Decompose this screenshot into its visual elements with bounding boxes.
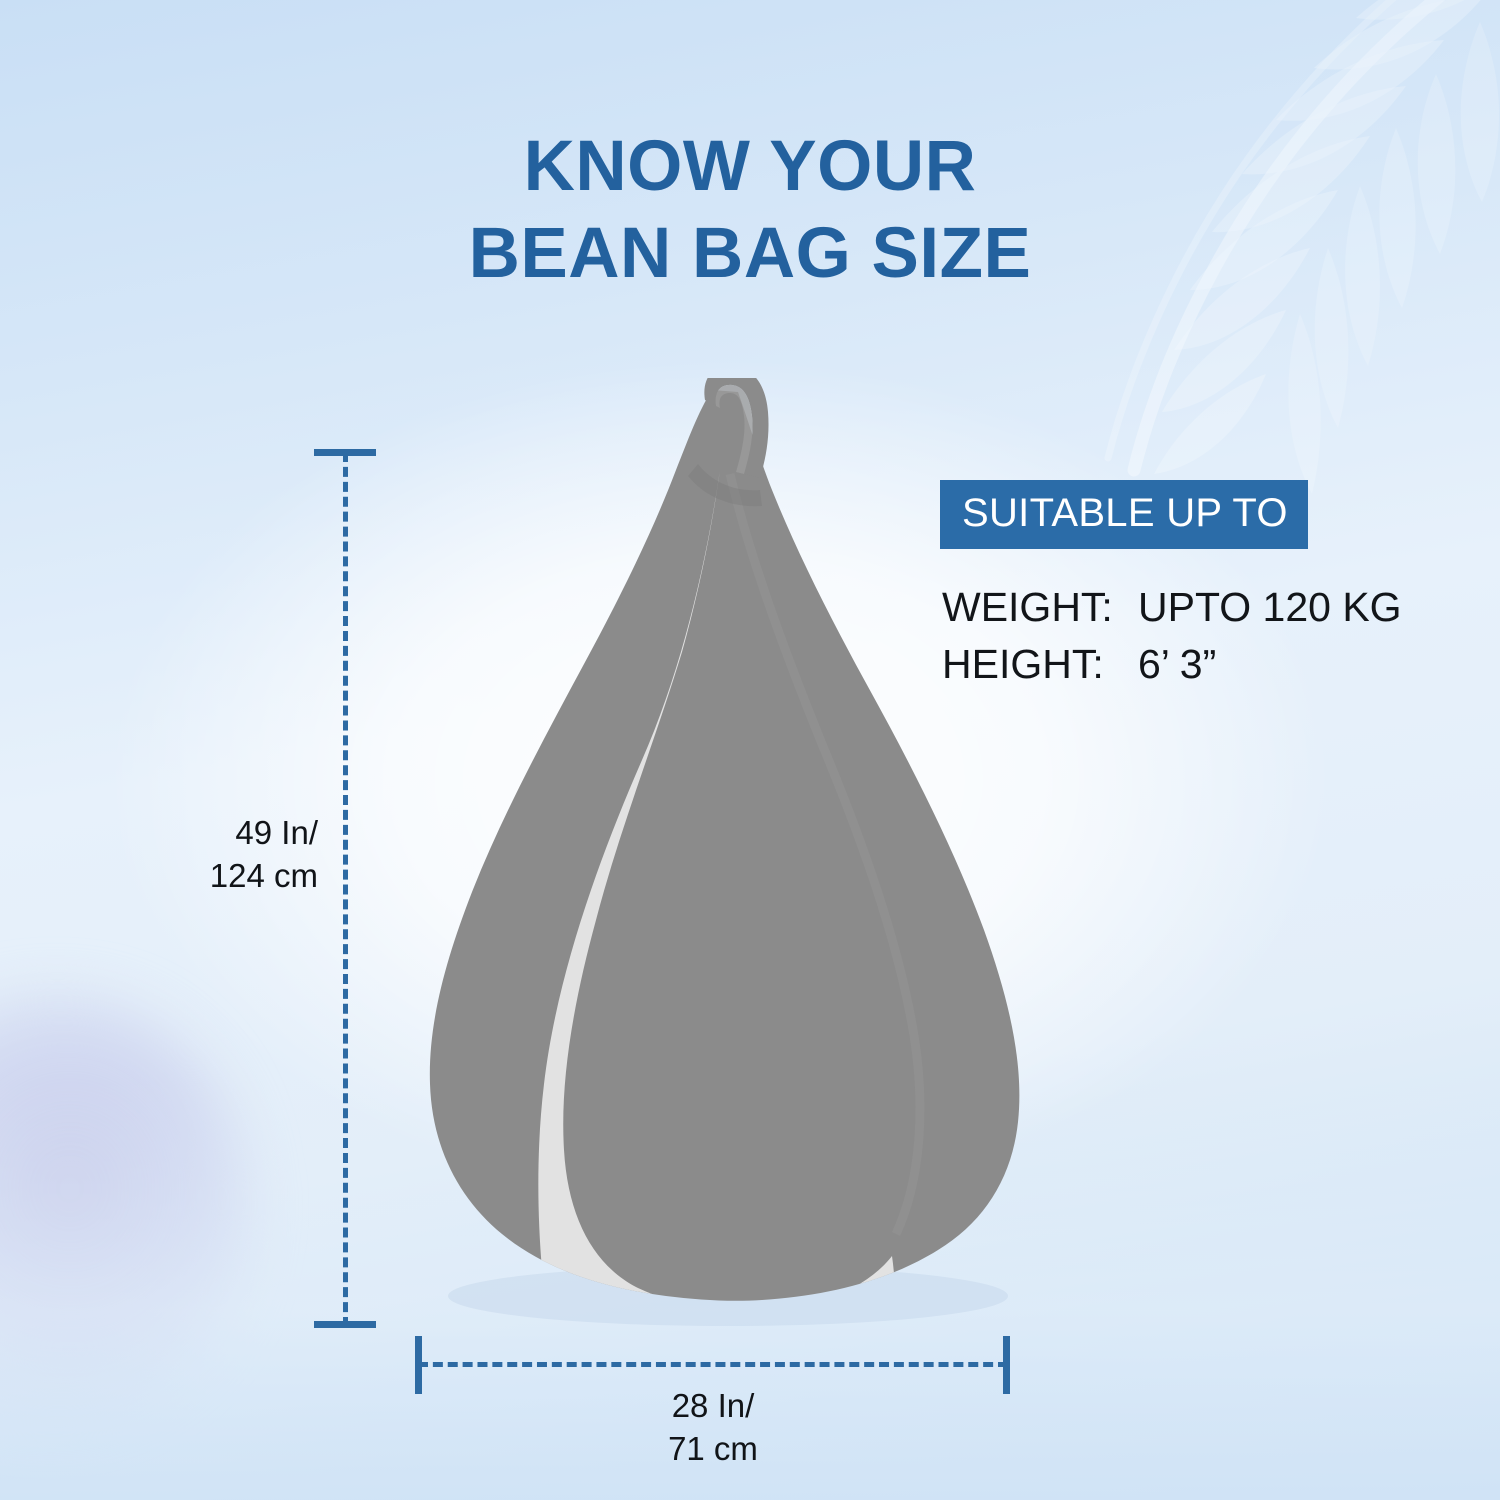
width-dimension-label: 28 In/ 71 cm [518, 1385, 908, 1471]
width-dimension-line [418, 1362, 1008, 1367]
suitability-panel: SUITABLE UP TO WEIGHT:UPTO 120 KG HEIGHT… [940, 480, 1460, 692]
height-dimension-label: 49 In/ 124 cm [168, 812, 318, 898]
page-title: KNOW YOUR BEAN BAG SIZE [0, 124, 1500, 297]
lavender-blob-decoration [0, 995, 250, 1425]
width-dimension-cap-right [1003, 1336, 1010, 1394]
infographic-canvas: KNOW YOUR BEAN BAG SIZE [0, 0, 1500, 1500]
page-title-line-2: BEAN BAG SIZE [0, 211, 1500, 298]
height-dimension-line [343, 452, 348, 1327]
status-badge: SUITABLE UP TO [940, 480, 1308, 549]
spec-label-height: HEIGHT: [942, 636, 1138, 693]
page-title-line-1: KNOW YOUR [0, 124, 1500, 211]
spec-label-weight: WEIGHT: [942, 579, 1138, 636]
suitability-spec-list: WEIGHT:UPTO 120 KG HEIGHT:6’ 3” [940, 579, 1460, 692]
spec-value-height: 6’ 3” [1138, 636, 1216, 693]
spec-row-weight: WEIGHT:UPTO 120 KG [942, 579, 1460, 636]
height-inches-text: 49 In/ [168, 812, 318, 855]
height-dimension-cap-top [314, 449, 376, 456]
width-centimeters-text: 71 cm [518, 1428, 908, 1471]
spec-value-weight: UPTO 120 KG [1138, 579, 1402, 636]
height-centimeters-text: 124 cm [168, 855, 318, 898]
width-inches-text: 28 In/ [518, 1385, 908, 1428]
spec-row-height: HEIGHT:6’ 3” [942, 636, 1460, 693]
height-dimension-cap-bottom [314, 1321, 376, 1328]
width-dimension-cap-left [415, 1336, 422, 1394]
